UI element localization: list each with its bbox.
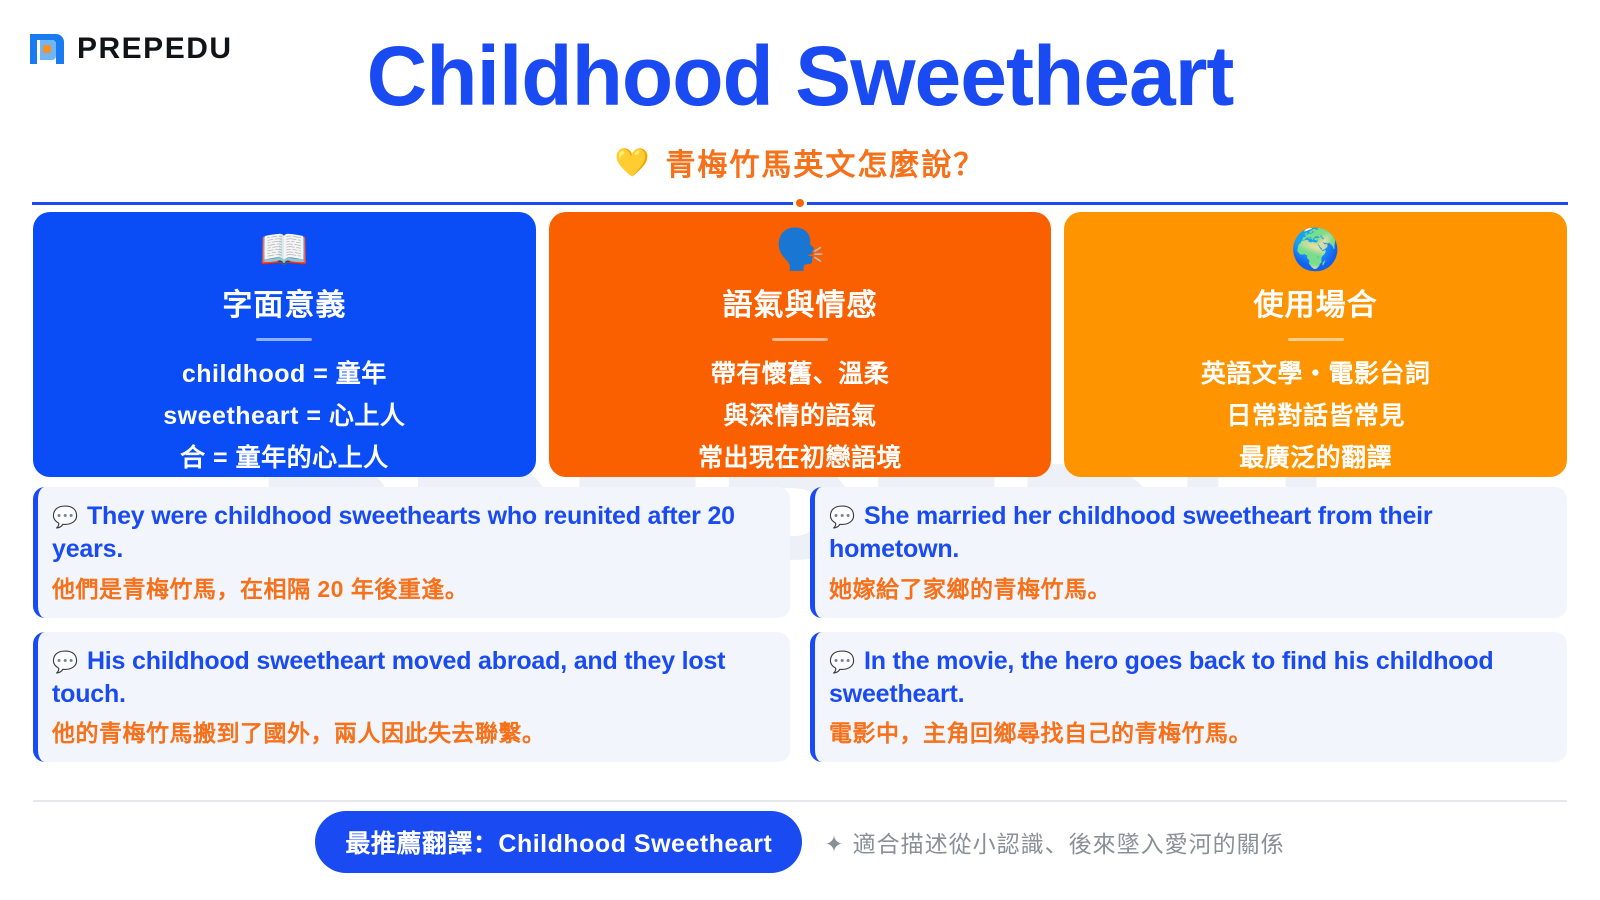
open-book-icon: 📖 (43, 230, 526, 278)
card-title: 語氣與情感 (559, 280, 1042, 324)
card-line: 英語文學・電影台詞 (1074, 353, 1557, 395)
example-chinese: 電影中，主角回鄉尋找自己的青梅竹馬。 (829, 714, 1549, 748)
card-line: childhood = 童年 (43, 353, 526, 395)
example-card: 💬She married her childhood sweetheart fr… (810, 487, 1567, 618)
example-english: 💬She married her childhood sweetheart fr… (829, 500, 1549, 567)
speech-bubble-icon: 💬 (829, 651, 855, 674)
example-english-text: She married her childhood sweetheart fro… (829, 502, 1432, 563)
card-line: 合 = 童年的心上人 (43, 437, 526, 479)
card-line: 帶有懷舊、溫柔 (559, 353, 1042, 395)
page-title: Childhood Sweetheart (0, 34, 1600, 118)
example-chinese: 他們是青梅竹馬，在相隔 20 年後重逢。 (52, 570, 772, 604)
infographic-page: PREPEDU PREPEDU Childhood Sweetheart 💛 青… (0, 0, 1600, 900)
footer-note: ✦適合描述從小認識、後來墜入愛河的關係 (824, 825, 1284, 859)
divider-dot-icon (793, 196, 807, 210)
header: PREPEDU Childhood Sweetheart 💛 青梅竹馬英文怎麼說… (0, 0, 1600, 186)
card-rule (772, 338, 828, 341)
card-line: 日常對話皆常見 (1074, 395, 1557, 437)
yellow-heart-icon: 💛 (615, 146, 652, 179)
speech-bubble-icon: 💬 (829, 506, 855, 529)
example-english-text: His childhood sweetheart moved abroad, a… (52, 647, 725, 708)
example-sentences: 💬They were childhood sweethearts who reu… (33, 487, 1567, 762)
card-title: 字面意義 (43, 280, 526, 324)
concept-cards: 📖 字面意義 childhood = 童年 sweetheart = 心上人 合… (33, 212, 1567, 477)
page-subtitle: 💛 青梅竹馬英文怎麼說？ (0, 140, 1600, 184)
footer-divider (33, 800, 1567, 802)
card-line: 常出現在初戀語境 (559, 437, 1042, 479)
example-card: 💬In the movie, the hero goes back to fin… (810, 632, 1567, 763)
card-rule (1288, 338, 1344, 341)
card-literal-meaning: 📖 字面意義 childhood = 童年 sweetheart = 心上人 合… (33, 212, 536, 477)
example-english-text: In the movie, the hero goes back to find… (829, 647, 1494, 708)
sparkle-icon: ✦ (824, 831, 844, 857)
example-chinese: 她嫁給了家鄉的青梅竹馬。 (829, 570, 1549, 604)
speaking-head-icon: 🗣️ (559, 230, 1042, 278)
recommended-translation-badge: 最推薦翻譯：Childhood Sweetheart (315, 811, 802, 873)
subtitle-text: 青梅竹馬英文怎麼說？ (665, 140, 985, 184)
card-line: 最廣泛的翻譯 (1074, 437, 1557, 479)
header-divider (32, 196, 1568, 210)
footer-note-text: 適合描述從小認識、後來墜入愛河的關係 (853, 831, 1285, 857)
example-card: 💬His childhood sweetheart moved abroad, … (33, 632, 790, 763)
speech-bubble-icon: 💬 (52, 506, 78, 529)
example-english: 💬In the movie, the hero goes back to fin… (829, 645, 1549, 712)
example-chinese: 他的青梅竹馬搬到了國外，兩人因此失去聯繫。 (52, 714, 772, 748)
speech-bubble-icon: 💬 (52, 651, 78, 674)
card-line: 與深情的語氣 (559, 395, 1042, 437)
card-line: sweetheart = 心上人 (43, 395, 526, 437)
card-tone-emotion: 🗣️ 語氣與情感 帶有懷舊、溫柔 與深情的語氣 常出現在初戀語境 (549, 212, 1052, 477)
footer: 最推薦翻譯：Childhood Sweetheart ✦適合描述從小認識、後來墜… (0, 812, 1600, 872)
example-english-text: They were childhood sweethearts who reun… (52, 502, 735, 563)
example-english: 💬His childhood sweetheart moved abroad, … (52, 645, 772, 712)
card-title: 使用場合 (1074, 280, 1557, 324)
example-english: 💬They were childhood sweethearts who reu… (52, 500, 772, 567)
card-rule (256, 338, 312, 341)
card-usage-context: 🌍 使用場合 英語文學・電影台詞 日常對話皆常見 最廣泛的翻譯 (1064, 212, 1567, 477)
example-card: 💬They were childhood sweethearts who reu… (33, 487, 790, 618)
globe-icon: 🌍 (1074, 230, 1557, 278)
